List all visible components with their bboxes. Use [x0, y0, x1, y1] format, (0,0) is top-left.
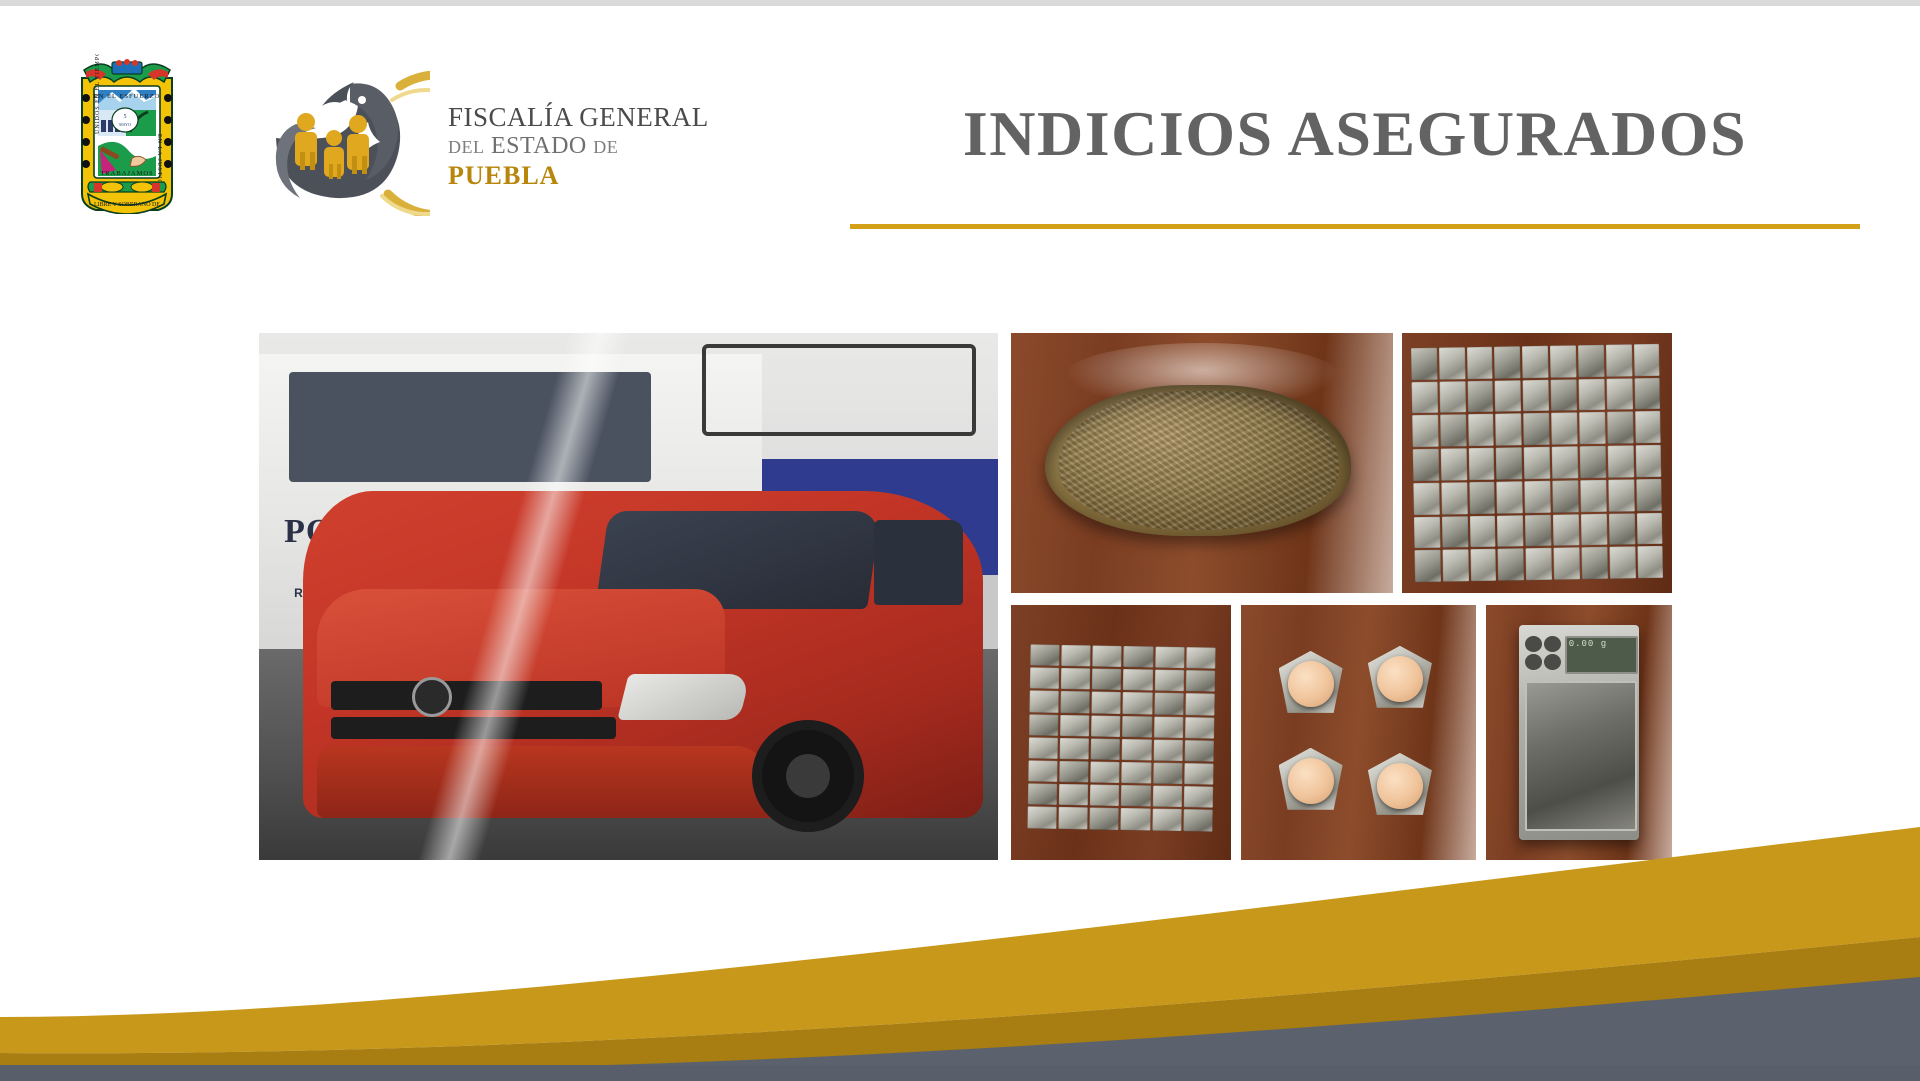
scale-display: 0.00 g [1565, 636, 1638, 674]
compressed-brick [1045, 385, 1351, 536]
baggie-cell [1466, 347, 1492, 379]
wordmark-estado: ESTADO [491, 133, 587, 159]
svg-text:5: 5 [124, 114, 127, 120]
baggie-cell [1183, 786, 1213, 808]
baggie-cell [1495, 414, 1521, 446]
svg-text:UNIDOS EN EL TIEMPO: UNIDOS EN EL TIEMPO [95, 54, 101, 134]
roof-rack [702, 344, 976, 436]
pill-tablet [1288, 758, 1334, 804]
baggie-cell [1183, 763, 1213, 785]
baggie-cell [1152, 762, 1181, 784]
baggie-cell [1497, 515, 1523, 547]
baggie-cell [1634, 378, 1660, 410]
svg-text:EN EL ESFUERZO: EN EL ESFUERZO [94, 93, 160, 100]
baggie-cell [1522, 346, 1548, 378]
baggie-cell [1154, 693, 1183, 715]
wordmark-del: DEL [448, 137, 485, 157]
scale-buttons [1525, 636, 1561, 670]
baggie-cell [1526, 548, 1552, 580]
baggie-cell [1470, 549, 1496, 581]
baggie-cell [1523, 379, 1549, 411]
baggie-cell [1607, 445, 1633, 477]
baggie-cell [1608, 513, 1634, 545]
svg-text:MAYO: MAYO [119, 122, 131, 127]
baggie-cell [1440, 448, 1466, 480]
baggie-cell [1413, 483, 1439, 515]
baggie-cell [1441, 482, 1467, 514]
baggie-cell [1153, 739, 1182, 761]
baggie-cell [1185, 647, 1215, 669]
baggie-cell [1092, 668, 1121, 690]
baggie-cell [1551, 413, 1577, 445]
baggie-cell [1633, 344, 1659, 376]
baggie-cell [1029, 691, 1058, 713]
baggie-cell [1185, 670, 1215, 692]
wordmark-line-3: PUEBLA [448, 162, 708, 189]
baggie-cell [1496, 447, 1522, 479]
baggie-cell [1579, 446, 1605, 478]
baggie-cell [1123, 646, 1153, 668]
baggie-cell [1634, 411, 1660, 443]
baggie-cell [1123, 669, 1153, 691]
baggie-cell [1027, 783, 1056, 805]
baggie-cell [1061, 645, 1091, 667]
baggie-cell [1468, 414, 1494, 446]
baggie-cell [1579, 412, 1605, 444]
vw-badge-icon [412, 677, 452, 717]
baggie-cell [1578, 345, 1604, 377]
baggie-cell [1525, 514, 1551, 546]
wordmark-line-2: DEL ESTADO DE [448, 134, 708, 160]
baggie-cell [1060, 691, 1090, 713]
baggie-cell [1550, 379, 1576, 411]
fiscalia-eagle-emblem-icon [250, 66, 430, 216]
baggie-cell [1414, 516, 1440, 548]
page-title-wrap: INDICIOS ASEGURADOS [850, 102, 1860, 166]
fiscalia-wordmark: FISCALÍA GENERAL DEL ESTADO DE PUEBLA [448, 104, 708, 190]
title-underline [850, 224, 1860, 229]
scale-body: 0.00 g [1519, 625, 1638, 839]
baggie-cell [1442, 516, 1468, 548]
baggie-cell [1553, 514, 1579, 546]
baggie-cell [1121, 762, 1151, 784]
baggie-cell [1028, 737, 1057, 759]
baggie-cell [1122, 739, 1152, 761]
baggie-cell [1154, 670, 1183, 692]
baggie-cell [1524, 447, 1550, 479]
marijuana-brick-photo [1011, 333, 1393, 593]
baggie-cell [1524, 481, 1550, 513]
svg-text:TRABAJAMOS: TRABAJAMOS [100, 170, 153, 177]
pill-tablet [1288, 661, 1334, 707]
baggie-cell [1090, 738, 1119, 760]
baggie-cell [1413, 449, 1439, 481]
baggie-cell [1184, 716, 1214, 738]
vehicle-bumper [317, 746, 766, 818]
baggie-cell [1495, 380, 1521, 412]
footer-bar [0, 1065, 1920, 1081]
footer-swoosh [0, 821, 1920, 1081]
vehicle-wheel [752, 720, 864, 832]
baggie-cell [1497, 481, 1523, 513]
baggie-cell [1029, 714, 1058, 736]
baggie-cell [1091, 715, 1120, 737]
baggie-cell [1581, 513, 1607, 545]
baggie-grid-small [1027, 644, 1215, 831]
vehicle-side-window [874, 520, 962, 605]
baggie-cell [1578, 379, 1604, 411]
scale-weighing-pan [1525, 681, 1636, 831]
scale-display-value: 0.00 g [1567, 638, 1636, 650]
baggie-cell [1091, 692, 1120, 714]
baggie-cell [1122, 715, 1152, 737]
baggie-cell [1637, 546, 1663, 578]
baggie-cell [1635, 445, 1661, 477]
baggie-cell [1608, 479, 1634, 511]
baggie-cell [1090, 761, 1119, 783]
baggie-cell [1029, 667, 1058, 689]
baggie-cell [1030, 644, 1059, 666]
baggie-cell [1185, 693, 1215, 715]
baggie-cell [1439, 347, 1465, 379]
wordmark-de: DE [593, 137, 618, 157]
baggie-cell [1059, 761, 1089, 783]
baggie-cell [1439, 381, 1465, 413]
baggie-cell [1469, 515, 1495, 547]
baggie-cell [1468, 448, 1494, 480]
baggie-cell [1523, 413, 1549, 445]
baggie-cell [1153, 716, 1182, 738]
baggie-cell [1092, 645, 1121, 667]
baggie-cell [1154, 646, 1183, 668]
baggie-cell [1636, 479, 1662, 511]
baggie-cell [1412, 415, 1438, 447]
baggie-cell [1442, 549, 1468, 581]
baggie-cell [1605, 344, 1631, 376]
baggie-cell [1550, 345, 1576, 377]
baggie-cell [1607, 412, 1633, 444]
baggie-cell [1440, 415, 1466, 447]
slide-header: 5 MAYO EN EL ESFUERZO TRABAJAMOS UNIDOS … [0, 6, 1920, 236]
baggie-cell [1060, 714, 1090, 736]
baggie-grid-large [1411, 344, 1663, 582]
pill-tablet [1377, 656, 1423, 702]
vehicle-photo: POLICÍA ESTATAL RAM [259, 333, 998, 860]
baggie-cell [1059, 784, 1089, 806]
vehicle-headlight [617, 674, 751, 720]
wordmark-line-1: FISCALÍA GENERAL [448, 104, 708, 132]
baggie-cell [1636, 512, 1662, 544]
baggie-cell [1152, 786, 1181, 808]
baggie-cell [1553, 548, 1579, 580]
baggie-cell [1122, 692, 1152, 714]
baggie-cell [1469, 482, 1495, 514]
baggie-cell [1552, 480, 1578, 512]
baggie-cell [1061, 668, 1091, 690]
baggie-cell [1028, 760, 1057, 782]
baggie-cell [1121, 785, 1151, 807]
baggie-cell [1059, 738, 1089, 760]
svg-text:LIBRE Y SOBERANO DE: LIBRE Y SOBERANO DE [94, 202, 160, 208]
baggie-cell [1184, 740, 1214, 762]
baggie-cell [1467, 380, 1493, 412]
baggie-cell [1606, 378, 1632, 410]
puebla-coat-of-arms-icon: 5 MAYO EN EL ESFUERZO TRABAJAMOS UNIDOS … [72, 54, 182, 214]
red-vehicle-body [303, 491, 983, 818]
baggie-cell [1411, 381, 1437, 413]
baggie-cell [1552, 446, 1578, 478]
baggie-cell [1498, 549, 1524, 581]
baggie-cell [1090, 784, 1119, 806]
page-title: INDICIOS ASEGURADOS [850, 102, 1860, 166]
baggie-cell [1580, 480, 1606, 512]
baggie-cell [1581, 547, 1607, 579]
baggie-cell [1411, 348, 1437, 380]
baggie-cell [1494, 346, 1520, 378]
baggie-cell [1609, 547, 1635, 579]
baggie-cell [1414, 550, 1440, 582]
slide-root: 5 MAYO EN EL ESFUERZO TRABAJAMOS UNIDOS … [0, 0, 1920, 1081]
baggies-sheet-large-photo [1402, 333, 1672, 593]
